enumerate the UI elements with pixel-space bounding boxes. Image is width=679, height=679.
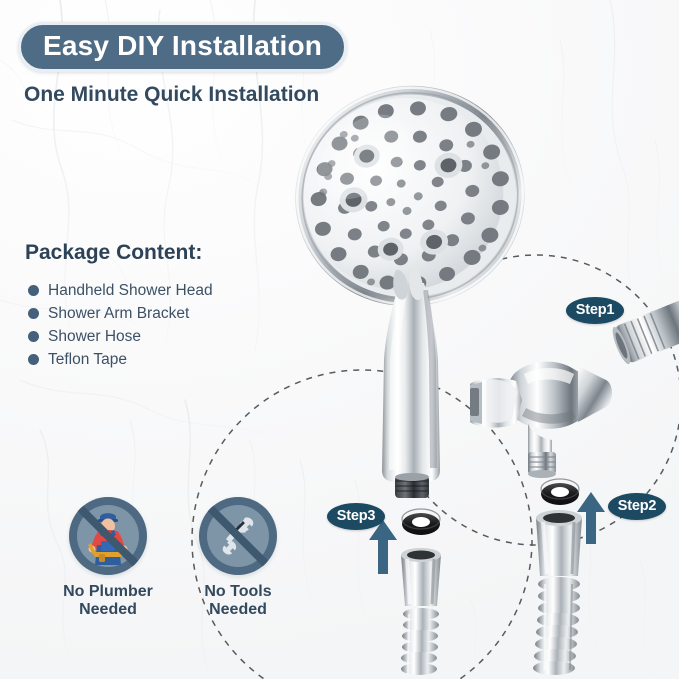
hose-coil-upper [533, 577, 580, 675]
no-tools-badge: No Tools Needed [178, 497, 298, 619]
list-item-label: Handheld Shower Head [48, 282, 213, 300]
shower-hose-lower-end [401, 548, 441, 675]
handheld-shower-head [275, 64, 546, 498]
handle-connector [395, 473, 429, 498]
no-tools-icon [199, 497, 277, 575]
page-title-pill: Easy DIY Installation [18, 22, 347, 72]
page-title: Easy DIY Installation [43, 32, 322, 60]
bracket-collar-nut [578, 366, 612, 422]
badge-line-1: No Tools [204, 583, 271, 600]
bullet-icon [28, 285, 39, 296]
bullet-icon [28, 331, 39, 342]
badge-line-2: Needed [209, 601, 267, 618]
step2-label: Step2 [618, 499, 657, 514]
no-plumber-label: No Plumber Needed [48, 583, 168, 619]
package-content-list: Handheld Shower Head Shower Arm Bracket … [28, 281, 213, 373]
arrow-step3 [369, 520, 397, 574]
rubber-washer-step3 [402, 509, 440, 535]
list-item: Shower Hose [28, 327, 213, 346]
infographic-canvas: Easy DIY Installation One Minute Quick I… [0, 0, 679, 679]
page-subtitle: One Minute Quick Installation [24, 83, 319, 107]
list-item: Handheld Shower Head [28, 281, 213, 300]
badge-line-1: No Plumber [63, 583, 153, 600]
step3-badge: Step3 [327, 503, 385, 530]
no-plumber-badge: No Plumber Needed [48, 497, 168, 619]
bullet-icon [28, 308, 39, 319]
list-item-label: Teflon Tape [48, 351, 127, 369]
shower-hose-upper-end [533, 510, 582, 675]
shower-arm-bracket [470, 362, 612, 478]
step1-badge: Step1 [566, 297, 624, 324]
badge-line-2: Needed [79, 601, 137, 618]
no-plumber-icon [69, 497, 147, 575]
list-item: Teflon Tape [28, 350, 213, 369]
step1-label: Step1 [576, 303, 615, 318]
bracket-outlet [528, 424, 556, 478]
step2-badge: Step2 [608, 493, 666, 520]
hose-coil-lower [401, 608, 439, 675]
list-item-label: Shower Hose [48, 328, 141, 346]
list-item-label: Shower Arm Bracket [48, 305, 189, 323]
step3-label: Step3 [337, 509, 376, 524]
rubber-washer-step2 [541, 479, 579, 505]
package-content-heading: Package Content: [25, 241, 202, 265]
bullet-icon [28, 354, 39, 365]
list-item: Shower Arm Bracket [28, 304, 213, 323]
no-tools-label: No Tools Needed [178, 583, 298, 619]
